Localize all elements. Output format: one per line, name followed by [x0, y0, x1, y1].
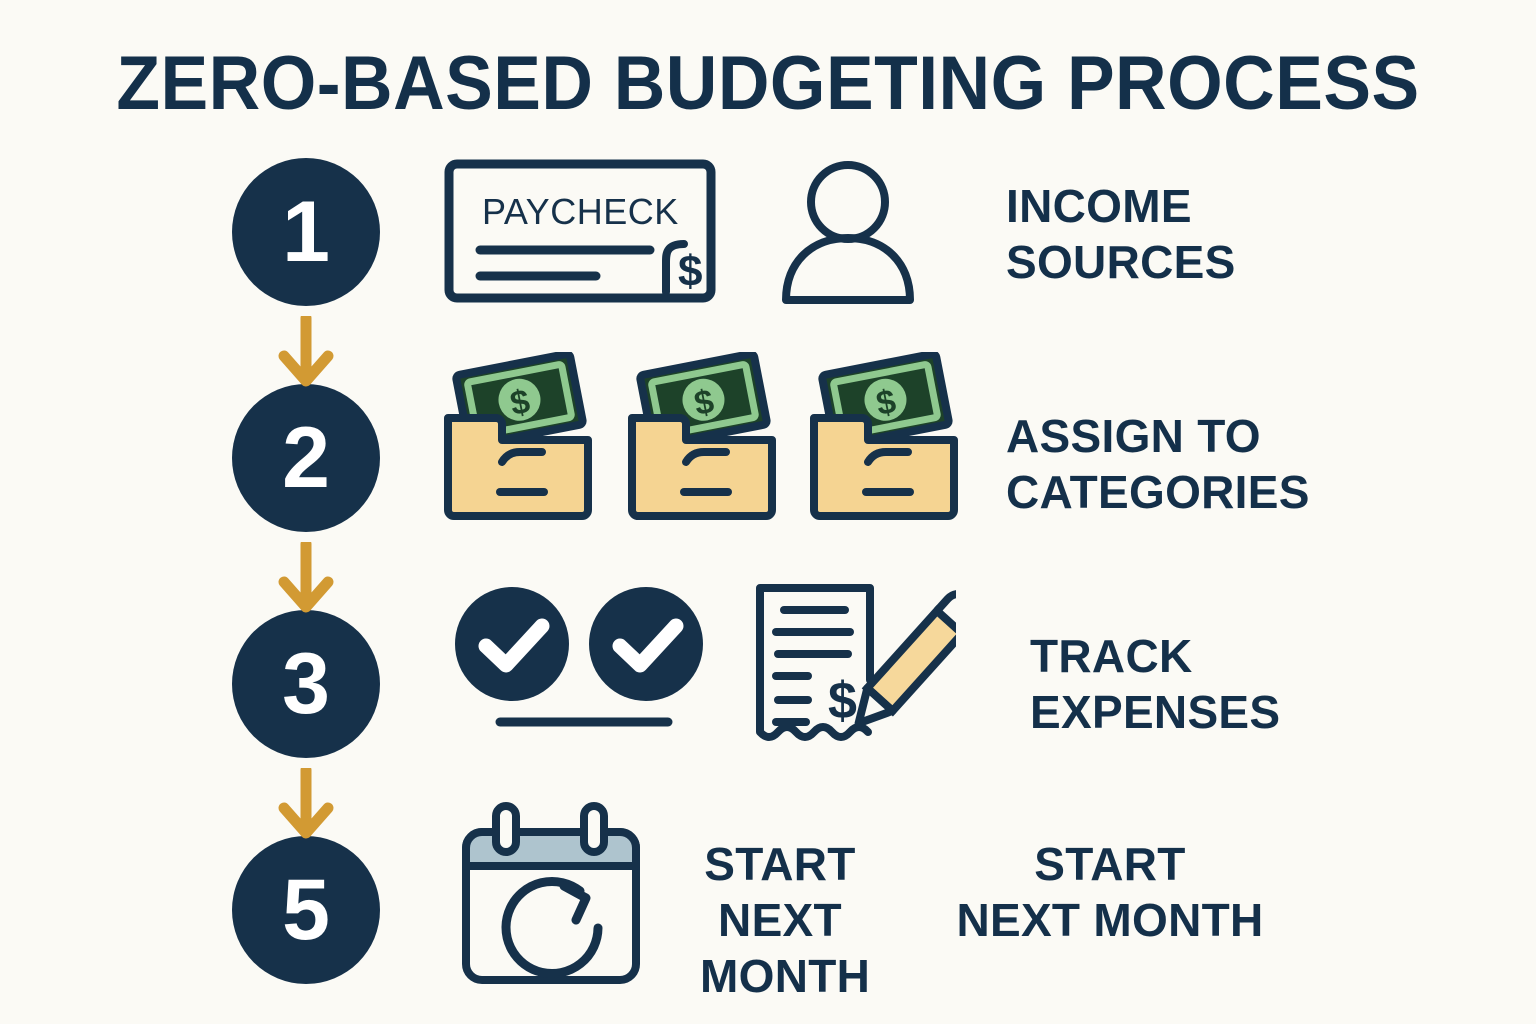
step-2-label-line-1: ASSIGN TO	[1006, 408, 1310, 464]
step-3-label: TRACK EXPENSES	[1030, 628, 1280, 740]
arrow-step-1-to-2	[276, 316, 336, 388]
receipt-with-pencil-icon: $	[746, 580, 956, 765]
step-circle-2: 2	[232, 384, 380, 532]
step-5-label-line-3: MONTH	[700, 948, 860, 1004]
step-number-2: 2	[282, 415, 330, 501]
check-circle-group	[450, 582, 710, 737]
calendar-ring-icon	[496, 806, 516, 852]
paycheck-label: PAYCHECK	[482, 191, 679, 232]
arrow-down-icon	[276, 316, 336, 388]
step-2-label-line-2: CATEGORIES	[1006, 464, 1310, 520]
calendar-ring-icon	[584, 806, 604, 852]
step-3-label-line-1: TRACK	[1030, 628, 1280, 684]
arrow-down-icon	[276, 768, 336, 840]
step-5-secondary-label: START NEXT MONTH	[930, 836, 1290, 948]
step-1-label-line-2: SOURCES	[1006, 234, 1236, 290]
dollar-sign-icon: $	[828, 672, 857, 730]
paycheck-icon: PAYCHECK $	[444, 158, 716, 311]
person-icon	[778, 158, 918, 309]
step-1-label-line-1: INCOME	[1006, 178, 1236, 234]
folder-with-money-icon: $	[440, 352, 596, 529]
pencil-icon	[846, 587, 956, 735]
step-2-label: ASSIGN TO CATEGORIES	[1006, 408, 1310, 520]
step-3-label-line-2: EXPENSES	[1030, 684, 1280, 740]
step-number-5: 5	[282, 867, 330, 953]
arrow-step-2-to-3	[276, 542, 336, 614]
folder-with-money-icon: $	[806, 352, 962, 529]
step-1-label: INCOME SOURCES	[1006, 178, 1236, 290]
step-5-secondary-label-line-2: NEXT MONTH	[930, 892, 1290, 948]
check-circle-icon	[589, 587, 703, 701]
step-number-1: 1	[282, 189, 330, 275]
calendar-refresh-icon	[452, 800, 648, 991]
page-title: ZERO-BASED BUDGETING PROCESS	[46, 40, 1490, 127]
arrow-down-icon	[276, 542, 336, 614]
check-circle-icon	[455, 587, 569, 701]
step-circle-5: 5	[232, 836, 380, 984]
arrow-step-3-to-5	[276, 768, 336, 840]
step-5-secondary-label-line-1: START	[930, 836, 1290, 892]
folder-with-money-icon: $	[624, 352, 780, 529]
step-circle-1: 1	[232, 158, 380, 306]
step-circle-3: 3	[232, 610, 380, 758]
step-5-label: START NEXT MONTH	[700, 836, 860, 1004]
step-5-label-line-2: NEXT	[700, 892, 860, 948]
dollar-sign-icon: $	[678, 247, 702, 296]
step-number-3: 3	[282, 641, 330, 727]
infographic-canvas: ZERO-BASED BUDGETING PROCESS 1 2 3 5	[0, 0, 1536, 1024]
step-5-label-line-1: START	[700, 836, 860, 892]
